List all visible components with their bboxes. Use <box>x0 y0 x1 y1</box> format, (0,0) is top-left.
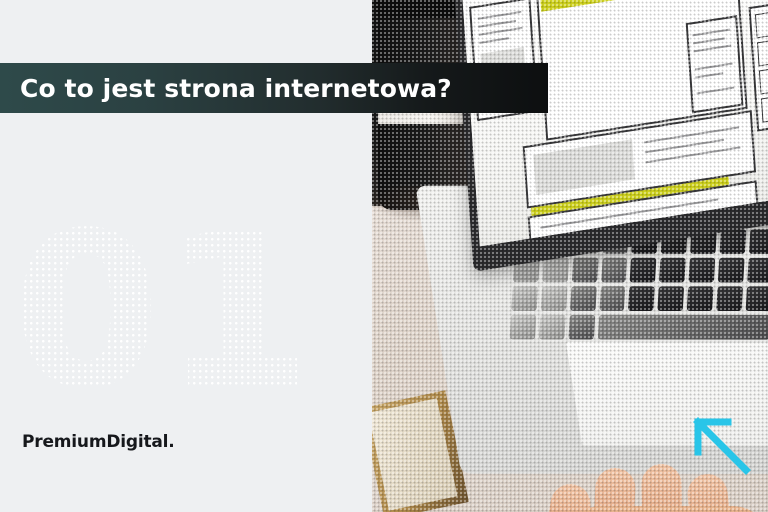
notebook-pages <box>372 398 457 510</box>
video-row <box>759 65 768 95</box>
page-title: Co to jest strona internetowa? <box>20 74 452 103</box>
laptop-screen: HTML <box>461 0 768 246</box>
finger <box>641 464 683 512</box>
video-row <box>755 9 768 39</box>
slide-root: 0 1 <box>0 0 768 512</box>
palm <box>562 506 768 512</box>
finger <box>543 482 593 512</box>
watermark-digit-0: 0 <box>12 214 157 410</box>
wireframe-side-stack <box>686 15 744 113</box>
arrow-up-left-icon <box>692 416 754 478</box>
brand-logo: PremiumDigital. <box>22 432 175 452</box>
video-row <box>757 37 768 67</box>
watermark-number: 0 1 <box>8 214 268 410</box>
laptop-screen-shell: HTML <box>453 0 768 272</box>
title-banner: Co to jest strona internetowa? <box>0 63 548 113</box>
watermark-digit-1: 1 <box>163 214 308 410</box>
video-row <box>761 93 768 123</box>
